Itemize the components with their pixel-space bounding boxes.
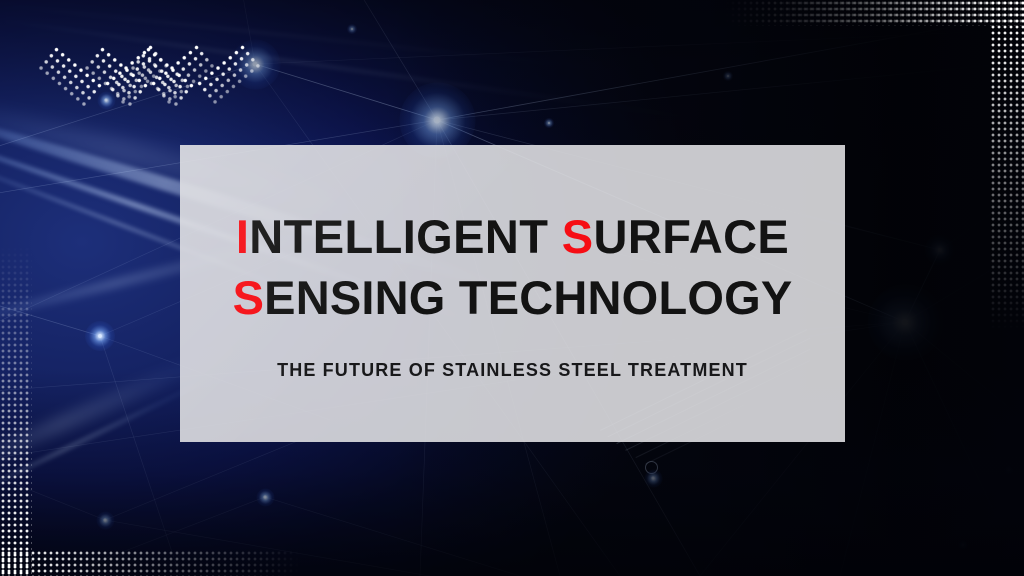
bottom-left-halftone-horizontal [0,550,300,576]
title-line-1: INTELLIGENT SURFACE [180,206,845,267]
title-accent-letter-s1: S [562,210,594,263]
title-accent-letter-i: I [236,210,249,263]
title-slide: INTELLIGENT SURFACE SENSING TECHNOLOGY T… [0,0,1024,576]
top-right-halftone-horizontal [774,0,1024,24]
title-accent-letter-s2: S [233,271,265,324]
title-word-intelligent: NTELLIGENT [249,210,562,263]
page-title: INTELLIGENT SURFACE SENSING TECHNOLOGY [180,206,845,328]
title-word-surface: URFACE [594,210,790,263]
page-subtitle: THE FUTURE OF STAINLESS STEEL TREATMENT [180,360,845,381]
title-card: INTELLIGENT SURFACE SENSING TECHNOLOGY T… [180,145,845,442]
top-right-halftone-vertical [990,0,1024,330]
title-line-2: SENSING TECHNOLOGY [180,267,845,328]
bottom-left-halftone-vertical [0,246,32,576]
title-words-sensing-technology: ENSING TECHNOLOGY [264,271,792,324]
